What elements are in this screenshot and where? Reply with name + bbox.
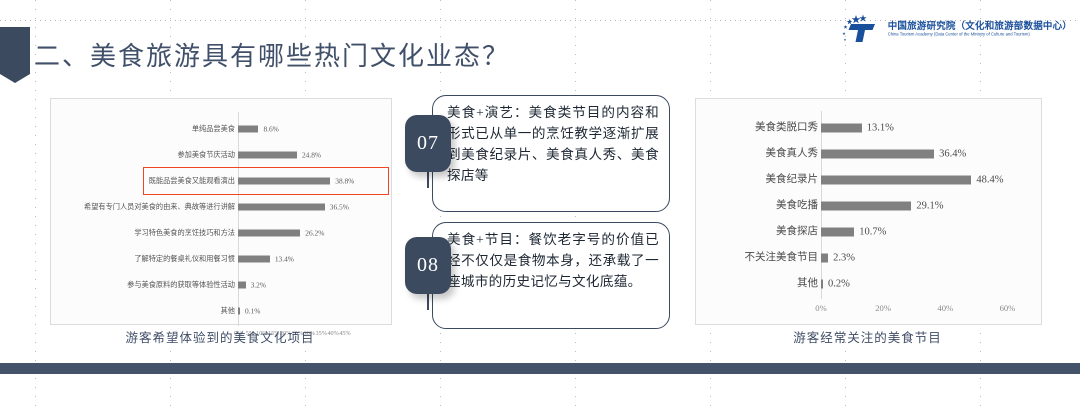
chart-bar [238,282,246,289]
chart-bar [238,204,325,211]
chart-tick-label: 0% [815,303,826,313]
organization-logo: 中国旅游研究院（文化和旅游部数据中心） China Tourism Academ… [839,14,1072,44]
chart-category-label: 美食真人秀 [696,148,821,160]
chart-bar-row: 单纯品尝美食8.6% [51,116,391,142]
title-accent-banner [0,27,30,83]
chart-bar-row: 美食吃播29.1% [696,193,1041,219]
chart-value-label: 0.1% [240,307,260,316]
chart-value-label: 36.5% [325,203,349,212]
chart-bar-row: 其他0.1% [51,298,391,324]
chart-value-label: 2.3% [828,253,855,264]
chart-bar-row: 参加美食节庆活动24.8% [51,142,391,168]
chart-value-label: 26.2% [300,229,324,238]
chart-bar-track: 0.2% [821,271,1041,297]
chart-bar [821,176,971,185]
chart-bar-row: 不关注美食节目2.3% [696,245,1041,271]
chart-bar-row: 其他0.2% [696,271,1041,297]
cta-star-t-logo-icon [839,14,883,44]
chart-bar-row: 美食纪录片48.4% [696,167,1041,193]
chart-bar-row: 美食真人秀36.4% [696,141,1041,167]
chart-bar [821,254,828,263]
chart-value-label: 36.4% [934,149,966,160]
callout-08-badge: 08 [405,237,451,294]
chart-bar [821,202,911,211]
callout-08-stem [427,294,429,310]
chart-tick-label: 20% [875,303,891,313]
chart-tick-label: 40% [937,303,953,313]
chart-bar-row: 参与美食原料的获取等体验性活动3.2% [51,272,391,298]
chart-bar-track: 13.4% [238,246,391,272]
chart-bar-track: 26.2% [238,220,391,246]
chart-bar-track: 10.7% [821,219,1041,245]
chart-category-label: 美食纪录片 [696,174,821,186]
chart-bar [238,230,300,237]
chart-tick-label: 60% [1000,303,1016,313]
callout-07-stem [427,172,429,188]
chart-bar-row: 美食类脱口秀13.1% [696,115,1041,141]
chart-value-label: 13.1% [862,123,894,134]
chart-value-label: 13.4% [270,255,294,264]
chart-value-label: 0.2% [823,279,850,290]
chart-category-label: 美食探店 [696,226,821,238]
chart-bar-track: 24.8% [238,142,391,168]
chart-bar-track: 13.1% [821,115,1041,141]
right-bar-chart: 美食类脱口秀13.1%美食真人秀36.4%美食纪录片48.4%美食吃播29.1%… [696,99,1041,324]
chart-category-label: 学习特色美食的烹饪技巧和方法 [51,229,238,237]
chart-bar [238,152,297,159]
chart-bar [238,126,258,133]
chart-category-label: 其他 [51,307,238,315]
logo-name-en: China Tourism Academy (Data Center of th… [888,32,1072,37]
chart-category-label: 不关注美食节目 [696,252,821,264]
chart-category-label: 参与美食原料的获取等体验性活动 [51,281,238,289]
chart-bar-row: 了解特定的餐桌礼仪和用餐习惯13.4% [51,246,391,272]
chart-bar-track: 36.4% [821,141,1041,167]
callout-07-badge: 07 [405,115,451,172]
chart-category-label: 希望有专门人员对美食的由来、典故等进行讲解 [51,203,238,211]
right-chart-panel: 美食类脱口秀13.1%美食真人秀36.4%美食纪录片48.4%美食吃播29.1%… [695,98,1042,325]
chart-bar-track: 48.4% [821,167,1041,193]
chart-value-label: 10.7% [854,227,886,238]
chart-category-label: 其他 [696,278,821,290]
callout-box-07: 美食+演艺：美食类节目的内容和形式已从单一的烹饪教学逐渐扩展到美食纪录片、美食真… [432,95,670,212]
chart-bar-track: 0.1% [238,298,391,324]
chart-bar-track: 3.2% [238,272,391,298]
logo-text: 中国旅游研究院（文化和旅游部数据中心） China Tourism Academ… [888,22,1072,36]
chart-bar-track: 8.6% [238,116,391,142]
right-chart-caption: 游客经常关注的美食节目 [695,327,1040,346]
left-bar-chart: 单纯品尝美食8.6%参加美食节庆活动24.8%既能品尝美食又能观看演出38.8%… [51,99,391,324]
chart-category-label: 美食类脱口秀 [696,122,821,134]
chart-bar [238,256,270,263]
left-chart-panel: 单纯品尝美食8.6%参加美食节庆活动24.8%既能品尝美食又能观看演出38.8%… [50,98,392,325]
chart-bar-track: 2.3% [821,245,1041,271]
chart-value-label: 8.6% [258,125,278,134]
chart-bar [821,228,854,237]
chart-bar-row: 美食探店10.7% [696,219,1041,245]
chart-value-label: 48.4% [971,175,1003,186]
highlighted-row-outline [143,167,389,195]
chart-category-label: 参加美食节庆活动 [51,151,238,159]
page-title: 二、美食旅游具有哪些热门文化业态？ [34,36,510,73]
chart-bar-track: 29.1% [821,193,1041,219]
chart-bar-track: 36.5% [238,194,391,220]
callout-08-text: 美食+节目：餐饮老字号的价值已经不仅仅是食物本身，还承载了一座城市的历史记忆与文… [447,229,659,292]
chart-category-label: 了解特定的餐桌礼仪和用餐习惯 [51,255,238,263]
chart-value-label: 24.8% [297,151,321,160]
chart-bar-row: 学习特色美食的烹饪技巧和方法26.2% [51,220,391,246]
left-chart-caption: 游客希望体验到的美食文化项目 [50,327,390,346]
chart-bar [821,124,862,133]
chart-category-label: 单纯品尝美食 [51,125,238,133]
callout-box-08: 美食+节目：餐饮老字号的价值已经不仅仅是食物本身，还承载了一座城市的历史记忆与文… [432,222,670,329]
chart-category-label: 美食吃播 [696,200,821,212]
chart-bar [821,150,934,159]
chart-value-label: 3.2% [246,281,266,290]
chart-bar-row: 希望有专门人员对美食的由来、典故等进行讲解36.5% [51,194,391,220]
footer-bar [0,363,1080,374]
chart-value-label: 29.1% [911,201,943,212]
callout-07-text: 美食+演艺：美食类节目的内容和形式已从单一的烹饪教学逐渐扩展到美食纪录片、美食真… [447,102,659,186]
